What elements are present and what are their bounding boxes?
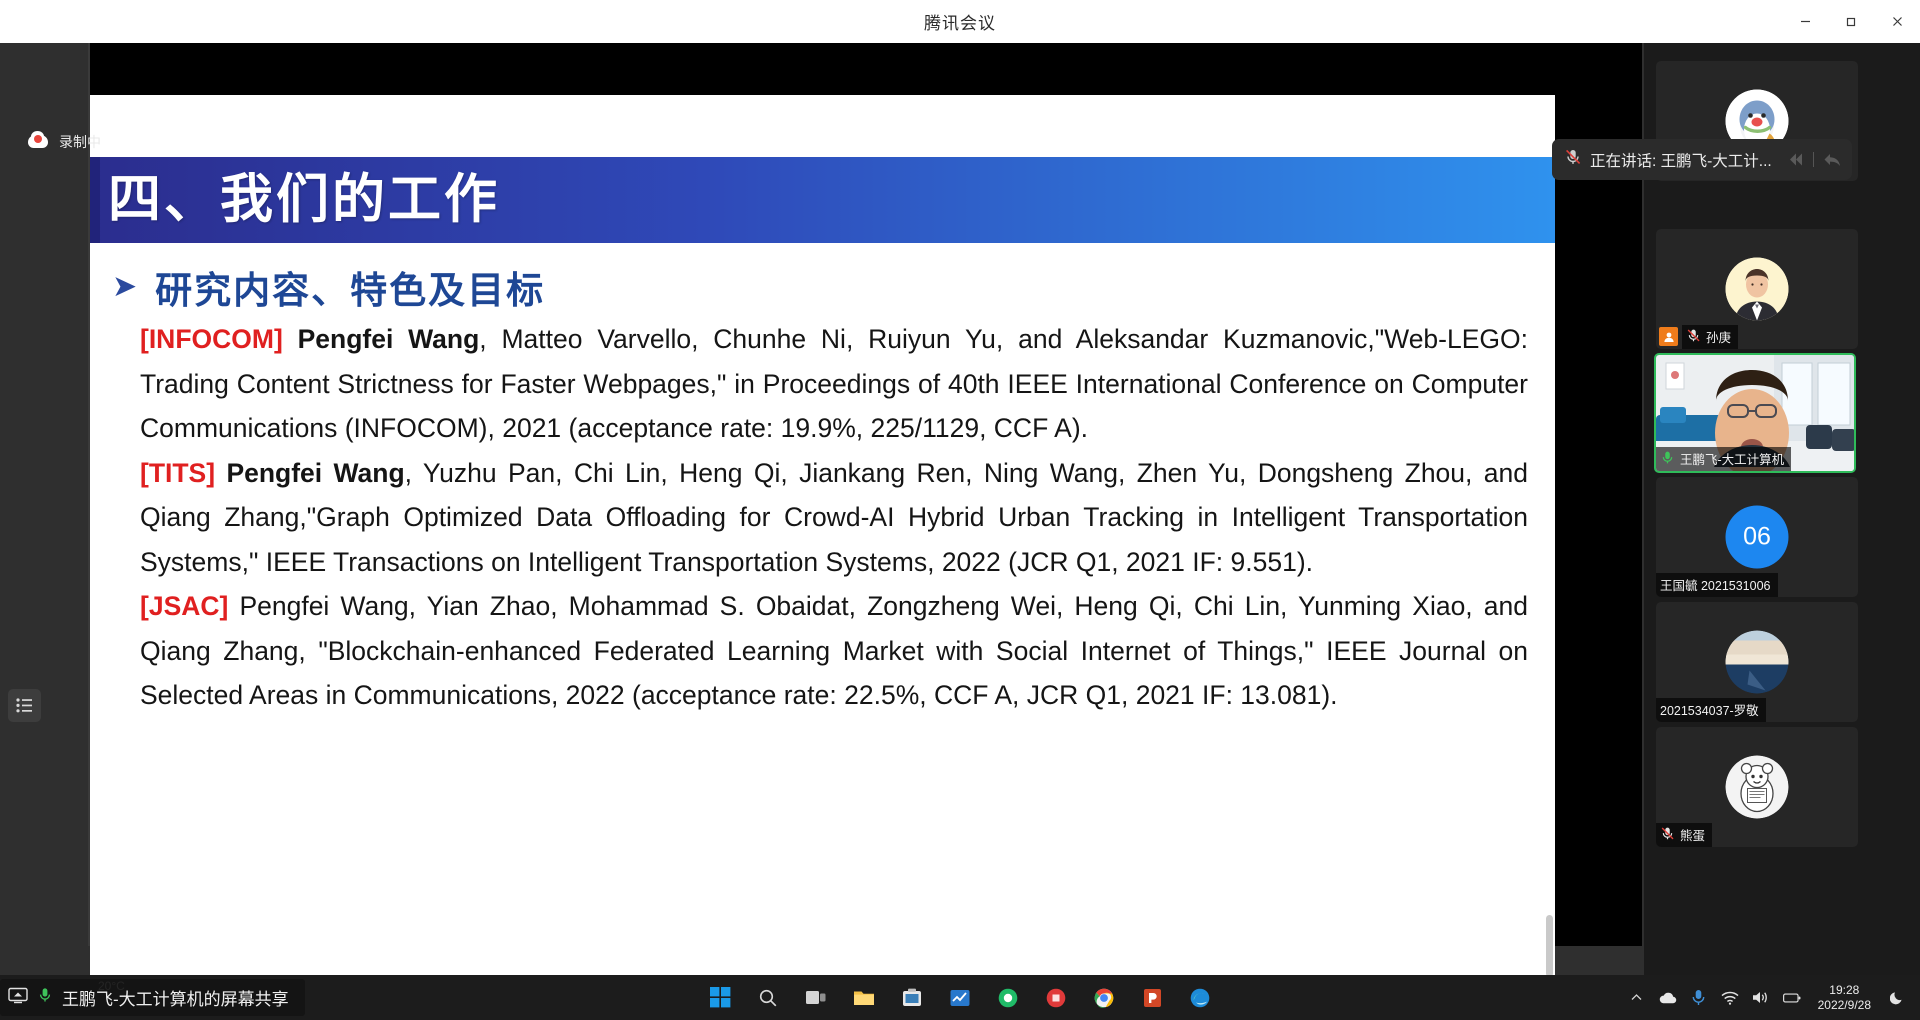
participant-name-badge: 熊蛋 [1656, 823, 1712, 847]
slide-subtitle-row: ➤ 研究内容、特色及目标 [112, 260, 545, 314]
avatar [1726, 756, 1789, 819]
chart-app-icon[interactable] [943, 981, 977, 1015]
participant-tile[interactable]: 06 王国毓 2021531006 [1656, 477, 1858, 597]
taskbar-app-strip [703, 975, 1217, 1020]
clock-time: 19:28 [1818, 983, 1871, 998]
microphone-icon[interactable] [1690, 989, 1708, 1007]
participant-tile[interactable]: 2021534037-罗敬 [1656, 602, 1858, 722]
minimize-button[interactable] [1782, 0, 1828, 43]
show-hidden-icons[interactable] [1628, 989, 1646, 1007]
cloud-icon[interactable] [1659, 989, 1677, 1007]
slide-subtitle: 研究内容、特色及目标 [155, 260, 545, 314]
reference-tag: [JSAC] [140, 591, 228, 621]
participant-rail: 正在讲话: 王鹏飞-大工计... [1644, 43, 1920, 975]
chrome-icon[interactable] [1087, 981, 1121, 1015]
edge-icon[interactable] [1183, 981, 1217, 1015]
arrow-bullet-icon: ➤ [112, 272, 137, 302]
wifi-icon[interactable] [1721, 989, 1739, 1007]
avatar-number: 06 [1726, 506, 1789, 569]
mic-active-icon [37, 986, 53, 1009]
mic-muted-icon [1686, 328, 1701, 346]
system-tray: 19:28 2022/9/28 [1628, 975, 1906, 1020]
reference-tag: [TITS] [140, 458, 215, 488]
clock-date: 2022/9/28 [1818, 998, 1871, 1013]
participant-name-badge: 孙庚 [1682, 325, 1738, 349]
reference-bold-author: Pengfei Wang [226, 458, 404, 488]
participant-name: 熊蛋 [1680, 825, 1705, 844]
reference-tag: [INFOCOM] [140, 324, 283, 354]
host-badge [1659, 327, 1678, 346]
screen-share-label: 王鹏飞-大工计算机的屏幕共享 [62, 985, 289, 1010]
maximize-restore-button[interactable] [1828, 0, 1874, 43]
window-title: 腾讯会议 [924, 9, 996, 34]
close-button[interactable] [1874, 0, 1920, 43]
file-explorer-icon[interactable] [847, 981, 881, 1015]
browser-green-icon[interactable] [991, 981, 1025, 1015]
reference-body: Pengfei Wang, Yian Zhao, Mohammad S. Oba… [140, 591, 1528, 710]
slide-title: 四、我们的工作 [108, 165, 500, 235]
search-icon[interactable] [751, 981, 785, 1015]
participant-name: 王鹏飞-大工计算机 [1680, 449, 1784, 468]
participant-name-badge: 2021534037-罗敬 [1656, 698, 1766, 722]
recorder-red-icon[interactable] [1039, 981, 1073, 1015]
slide-banner-accent-bar [90, 157, 100, 243]
participant-name: 王国毓 2021531006 [1660, 575, 1771, 594]
participant-tile[interactable]: 熊蛋 [1656, 727, 1858, 847]
participant-name: 2021534037-罗敬 [1660, 700, 1759, 719]
start-windows-icon[interactable] [703, 981, 737, 1015]
mic-active-icon [1660, 450, 1675, 468]
slide-body-text: [INFOCOM] Pengfei Wang, Matteo Varvello,… [140, 317, 1528, 718]
reference-item: [INFOCOM] Pengfei Wang, Matteo Varvello,… [140, 317, 1528, 451]
shared-screen-area: 四、我们的工作 ➤ 研究内容、特色及目标 [INFOCOM] Pengfei W… [0, 43, 1920, 975]
recording-label: 录制中 [59, 132, 101, 152]
collapse-rail-icon[interactable] [1787, 152, 1842, 167]
battery-icon[interactable] [1783, 989, 1801, 1007]
minimize-rail-icon [1823, 152, 1842, 167]
moon-icon[interactable] [1888, 989, 1906, 1007]
participant-name-badge: 王鹏飞-大工计算机 [1656, 447, 1791, 471]
participant-tile-active[interactable]: 王鹏飞-大工计算机 [1654, 353, 1856, 473]
reference-item: [TITS] Pengfei Wang, Yuzhu Pan, Chi Lin,… [140, 451, 1528, 585]
screen-share-icon [8, 987, 28, 1009]
store-icon[interactable] [895, 981, 929, 1015]
recording-cloud-icon [28, 133, 48, 151]
recording-indicator: 录制中 [28, 132, 101, 152]
active-speaker-label: 正在讲话: 王鹏飞-大工计... [1590, 149, 1772, 171]
taskbar-clock[interactable]: 19:28 2022/9/28 [1814, 983, 1875, 1013]
window-controls [1782, 0, 1920, 43]
avatar [1726, 631, 1789, 694]
windows-taskbar: 20°C 王鹏飞-大工计算机的屏幕共享 [0, 975, 1920, 1020]
powerpoint-icon[interactable] [1135, 981, 1169, 1015]
screen-share-status[interactable]: 王鹏飞-大工计算机的屏幕共享 [0, 979, 305, 1016]
window-titlebar: 腾讯会议 [0, 0, 1920, 43]
mic-muted-icon [1564, 148, 1582, 171]
participant-name-badge: 王国毓 2021531006 [1656, 573, 1778, 597]
presentation-slide: 四、我们的工作 ➤ 研究内容、特色及目标 [INFOCOM] Pengfei W… [90, 95, 1555, 990]
volume-icon[interactable] [1752, 989, 1770, 1007]
avatar [1726, 258, 1789, 321]
participant-tile[interactable]: 孙庚 [1656, 229, 1858, 349]
active-speaker-toast: 正在讲话: 王鹏飞-大工计... [1552, 139, 1852, 180]
task-view-icon[interactable] [799, 981, 833, 1015]
mic-muted-icon [1660, 826, 1675, 844]
reference-item: [JSAC] Pengfei Wang, Yian Zhao, Mohammad… [140, 584, 1528, 718]
reference-bold-author: Pengfei Wang [298, 324, 480, 354]
slide-scrollbar-thumb[interactable] [1546, 915, 1553, 977]
participant-name: 孙庚 [1706, 327, 1731, 346]
annotation-toolbar-button[interactable] [8, 689, 41, 722]
